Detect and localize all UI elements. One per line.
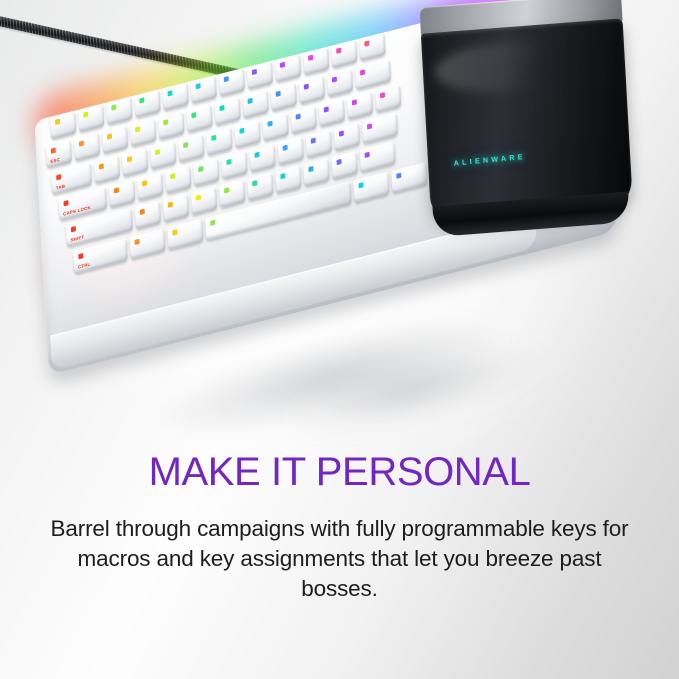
keycap <box>106 96 132 125</box>
page-title: MAKE IT PERSONAL <box>44 452 635 492</box>
body-line-1: Barrel through campaigns with fully prog… <box>51 516 545 541</box>
keycap <box>129 228 165 259</box>
keycap-esc: ESC <box>46 140 72 169</box>
keycap <box>186 104 212 133</box>
product-photo: ESC TAB <box>0 0 679 450</box>
keycap-r <box>178 134 204 163</box>
keycap-e <box>150 141 176 170</box>
keycap <box>162 82 188 111</box>
keycap <box>271 83 297 112</box>
keycap <box>214 97 240 126</box>
keycap <box>359 32 385 61</box>
keycap <box>275 54 301 83</box>
keycap-p <box>347 91 373 120</box>
keycap-m <box>303 158 329 187</box>
keycap <box>74 132 100 161</box>
keycap <box>247 61 273 90</box>
keycap-l <box>334 122 360 151</box>
marketing-copy: MAKE IT PERSONAL Barrel through campaign… <box>0 452 679 604</box>
keycap-i <box>291 105 317 134</box>
keycap-c <box>191 186 217 215</box>
keycap <box>299 76 325 105</box>
product-feature-page: ESC TAB <box>0 0 679 679</box>
keycap-n <box>275 165 301 194</box>
keycap <box>134 89 160 118</box>
keycap <box>130 118 156 147</box>
keycap <box>359 141 395 172</box>
keycap-o <box>319 98 345 127</box>
keycap <box>327 68 353 97</box>
keycap <box>190 75 216 104</box>
keycap-y <box>234 120 260 149</box>
keycap-s <box>137 172 163 201</box>
keycap-g <box>221 151 247 180</box>
keycap-u <box>262 113 288 142</box>
keycap-b <box>247 172 273 201</box>
keycap <box>353 172 389 203</box>
keycap-label: CAPS LOCK <box>63 205 91 217</box>
keycap-label: ESC <box>50 157 60 165</box>
keycap-label: SHIFT <box>70 234 84 243</box>
keycap-tab: TAB <box>51 162 92 194</box>
keycap <box>219 68 245 97</box>
keycap <box>167 219 203 250</box>
palm-rest-face <box>421 18 633 223</box>
keycap <box>158 111 184 140</box>
keycap-f <box>193 158 219 187</box>
keycap-w <box>122 148 148 177</box>
keycap <box>242 90 268 119</box>
body-copy: Barrel through campaigns with fully prog… <box>50 514 630 604</box>
keycap-j <box>277 137 303 166</box>
keycap <box>303 47 329 76</box>
keycap-q <box>94 155 120 184</box>
keycap <box>355 59 391 90</box>
keycap-t <box>206 127 232 156</box>
keycap-label: TAB <box>56 183 66 190</box>
keycap <box>362 113 398 144</box>
keycap-label: CTRL <box>78 262 91 270</box>
keycap-k <box>306 130 332 159</box>
keycap-d <box>165 165 191 194</box>
keycap <box>331 151 357 180</box>
keycap-h <box>249 144 275 173</box>
keycap-a <box>109 179 135 208</box>
keycap-ctrl: CTRL <box>73 238 128 274</box>
keycap <box>391 162 427 193</box>
palm-rest: ALIENWARE <box>419 0 641 262</box>
keycap <box>331 40 357 69</box>
keycap <box>50 111 76 140</box>
keycap-z <box>135 201 161 230</box>
keycap <box>375 84 401 113</box>
keycap-x <box>163 194 189 223</box>
keycap-v <box>219 179 245 208</box>
keycap <box>102 125 128 154</box>
keycap <box>78 104 104 133</box>
